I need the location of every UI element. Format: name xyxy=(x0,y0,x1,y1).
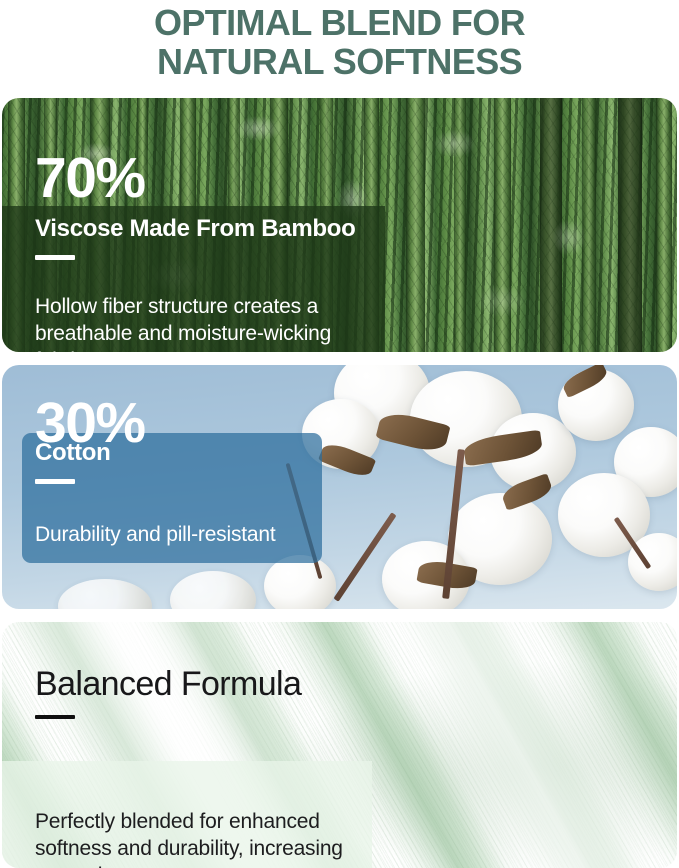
panel-bamboo-content: 70% Viscose Made From Bamboo Hollow fibe… xyxy=(2,98,677,352)
panel-cotton-content: 30% Cotton Durability and pill-resistant xyxy=(2,365,677,609)
headline-line-1: OPTIMAL BLEND FOR xyxy=(20,4,659,43)
bamboo-title-wrap: Viscose Made From Bamboo xyxy=(35,216,355,260)
balanced-overlay-box: Perfectly blended for enhanced softness … xyxy=(2,761,372,868)
page-headline: OPTIMAL BLEND FOR NATURAL SOFTNESS xyxy=(0,0,679,90)
cotton-divider xyxy=(35,479,75,484)
headline-line-2: NATURAL SOFTNESS xyxy=(20,43,659,82)
balanced-title-wrap: Balanced Formula xyxy=(35,666,301,719)
bamboo-overlay-box: Viscose Made From Bamboo Hollow fiber st… xyxy=(2,206,385,352)
panel-bamboo: 70% Viscose Made From Bamboo Hollow fibe… xyxy=(2,98,677,352)
benefit-panels: 70% Viscose Made From Bamboo Hollow fibe… xyxy=(2,98,677,868)
balanced-body-text: Perfectly blended for enhanced softness … xyxy=(35,809,354,868)
cotton-body-text: Durability and pill-resistant xyxy=(35,522,310,549)
bamboo-percent: 70% xyxy=(35,150,145,207)
cotton-percent: 30% xyxy=(35,395,145,452)
balanced-divider xyxy=(35,715,75,719)
bamboo-divider xyxy=(35,255,75,260)
balanced-title: Balanced Formula xyxy=(35,666,301,703)
bamboo-body-text: Hollow fiber structure creates a breatha… xyxy=(35,294,369,352)
bamboo-subtitle: Viscose Made From Bamboo xyxy=(35,216,355,243)
panel-balanced-content: Balanced Formula Perfectly blended for e… xyxy=(2,622,677,868)
panel-balanced: Balanced Formula Perfectly blended for e… xyxy=(2,622,677,868)
panel-cotton: 30% Cotton Durability and pill-resistant xyxy=(2,365,677,609)
